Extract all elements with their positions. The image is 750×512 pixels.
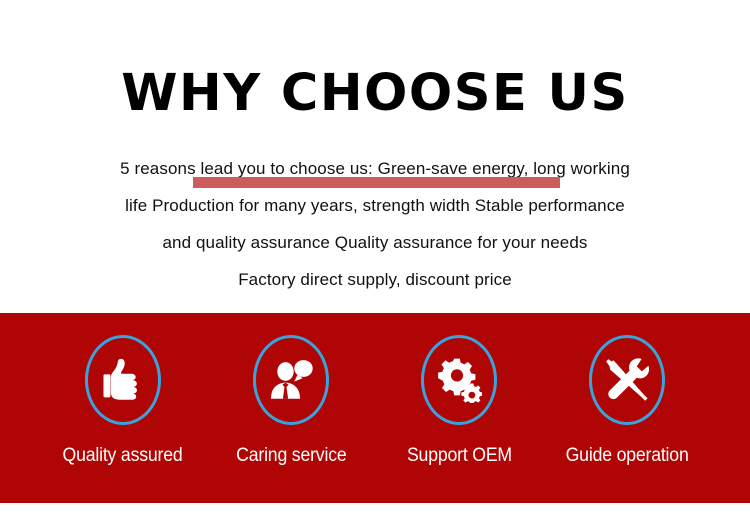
- features-band: Quality assured Caring servic: [0, 313, 750, 503]
- feature-item-caring-service[interactable]: Caring service: [207, 335, 375, 467]
- feature-item-guide-operation[interactable]: Guide operation: [543, 335, 711, 467]
- icon-circle: [421, 335, 497, 425]
- gears-icon: [436, 357, 482, 403]
- feature-label: Guide operation: [566, 445, 689, 467]
- description-line: Factory direct supply, discount price: [0, 261, 750, 298]
- feature-label: Quality assured: [63, 445, 183, 467]
- icon-circle: [253, 335, 329, 425]
- feature-label: Support OEM: [406, 445, 511, 467]
- features-list: Quality assured Caring servic: [0, 313, 750, 503]
- description-paragraph: 5 reasons lead you to choose us: Green-s…: [0, 150, 750, 298]
- feature-item-quality-assured[interactable]: Quality assured: [39, 335, 207, 467]
- page-title: WHY CHOOSE US: [0, 63, 750, 125]
- description-line: and quality assurance Quality assurance …: [0, 224, 750, 261]
- promo-banner: WHY CHOOSE US 5 reasons lead you to choo…: [0, 0, 750, 512]
- feature-item-support-oem[interactable]: Support OEM: [375, 335, 543, 467]
- description-line: life Production for many years, strength…: [0, 187, 750, 224]
- wrench-screwdriver-icon: [604, 357, 650, 403]
- person-speech-bubble-icon: [268, 358, 314, 402]
- icon-circle: [589, 335, 665, 425]
- icon-circle: [85, 335, 161, 425]
- thumbs-up-icon: [101, 357, 145, 403]
- feature-label: Caring service: [236, 445, 346, 467]
- title-underline-bar: [193, 177, 560, 188]
